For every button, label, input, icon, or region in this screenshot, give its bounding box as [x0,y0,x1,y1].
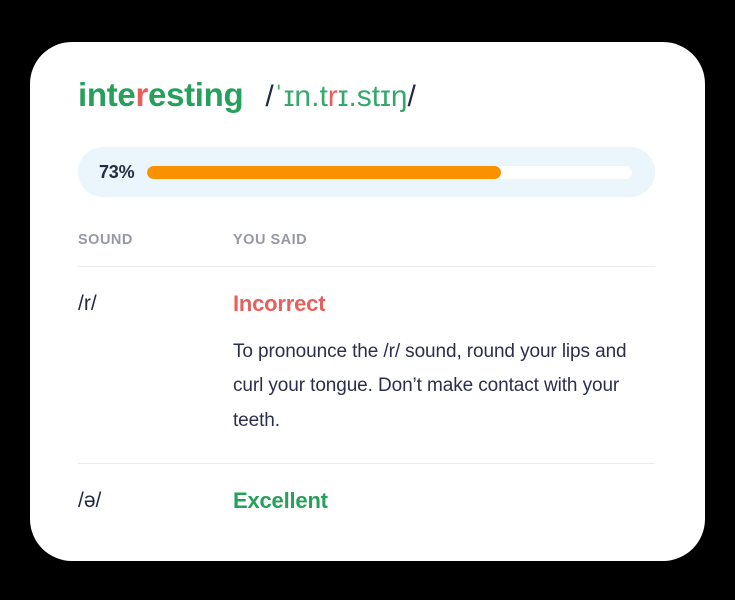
row-verdict-badge: Excellent [233,487,655,515]
score-percent-label: 73% [99,162,147,183]
phonetic-segment-correct-1: ˈɪn.t [274,80,328,113]
table-row[interactable]: /ə/ Excellent [78,464,655,540]
row-feedback: Excellent [233,487,655,515]
sounds-table: SOUND YOU SAID /r/ Incorrect To pronounc… [78,232,655,540]
row-sound-symbol: /r/ [78,290,233,438]
word-segment-incorrect: r [135,76,148,113]
progress-fill [147,166,501,179]
table-row[interactable]: /r/ Incorrect To pronounce the /r/ sound… [78,267,655,463]
row-pronunciation-tip: To pronounce the /r/ sound, round your l… [233,335,655,439]
row-verdict-badge: Incorrect [233,290,655,318]
word-header: interesting /ˈɪn.trɪ.stɪŋ/ [78,78,416,112]
phonetic-close-slash: / [408,80,416,113]
row-feedback: Incorrect To pronounce the /r/ sound, ro… [233,290,655,438]
progress-track [147,166,632,179]
phonetic-segment-incorrect: r [328,80,338,113]
phonetic-open-slash: / [265,80,273,113]
pronunciation-result-card: interesting /ˈɪn.trɪ.stɪŋ/ 73% SOUND YOU… [30,42,705,561]
word-segment-correct-2: esting [148,76,243,113]
screen-root: interesting /ˈɪn.trɪ.stɪŋ/ 73% SOUND YOU… [0,0,735,600]
table-header-row: SOUND YOU SAID [78,232,655,266]
score-progress-bar: 73% [78,147,655,197]
column-header-you-said: YOU SAID [233,232,655,248]
phonetic-transcription: /ˈɪn.trɪ.stɪŋ/ [265,82,415,112]
word-segment-correct-1: inte [78,76,135,113]
column-header-sound: SOUND [78,232,233,248]
phonetic-segment-correct-2: ɪ.stɪŋ [338,80,408,113]
row-sound-symbol: /ə/ [78,487,233,515]
target-word: interesting [78,78,243,111]
